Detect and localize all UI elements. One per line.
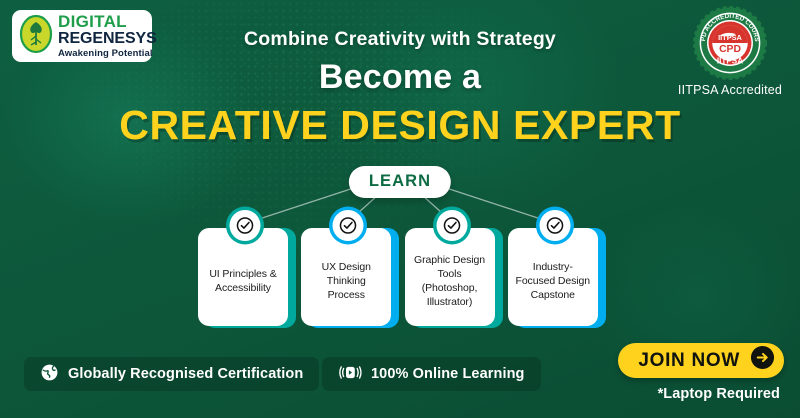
module-card[interactable]: Graphic Design Tools (Photoshop, Illustr… xyxy=(405,222,499,328)
check-circle-icon xyxy=(230,210,261,241)
headline-line-2: CREATIVE DESIGN EXPERT xyxy=(0,102,800,149)
globe-icon xyxy=(40,363,59,386)
module-cards: UI Principles & Accessibility UX Design … xyxy=(198,222,602,330)
card-label: UI Principles & Accessibility xyxy=(204,268,282,296)
card-label: Graphic Design Tools (Photoshop, Illustr… xyxy=(411,254,489,309)
join-now-label: JOIN NOW xyxy=(638,350,740,372)
learn-badge: LEARN xyxy=(349,166,451,198)
module-card[interactable]: UI Principles & Accessibility xyxy=(198,222,292,328)
join-now-button[interactable]: JOIN NOW xyxy=(618,343,784,378)
check-circle-icon xyxy=(436,210,467,241)
feature-label: 100% Online Learning xyxy=(371,366,525,382)
card-body: Industry-Focused Design Capstone xyxy=(508,228,598,326)
module-card[interactable]: Industry-Focused Design Capstone xyxy=(508,222,602,328)
headline-line-1: Become a xyxy=(0,58,800,97)
card-body: Graphic Design Tools (Photoshop, Illustr… xyxy=(405,228,495,326)
card-label: Industry-Focused Design Capstone xyxy=(514,261,592,303)
arrow-right-circle-icon xyxy=(750,345,775,376)
card-body: UI Principles & Accessibility xyxy=(198,228,288,326)
card-body: UX Design Thinking Process xyxy=(301,228,391,326)
laptop-required-note: *Laptop Required xyxy=(658,386,780,402)
promo-banner: DIGITAL REGENESYS Awakening Potential II… xyxy=(0,0,800,418)
check-circle-icon xyxy=(539,210,570,241)
headline-block: Combine Creativity with Strategy Become … xyxy=(0,28,800,149)
feature-online-learning: 100% Online Learning xyxy=(322,357,541,391)
feature-label: Globally Recognised Certification xyxy=(68,366,303,382)
feature-globally-recognised: Globally Recognised Certification xyxy=(24,357,319,391)
card-label: UX Design Thinking Process xyxy=(307,261,385,303)
headline-kicker: Combine Creativity with Strategy xyxy=(0,28,800,51)
broadcast-play-icon xyxy=(338,363,362,386)
module-card[interactable]: UX Design Thinking Process xyxy=(301,222,395,328)
check-circle-icon xyxy=(333,210,364,241)
